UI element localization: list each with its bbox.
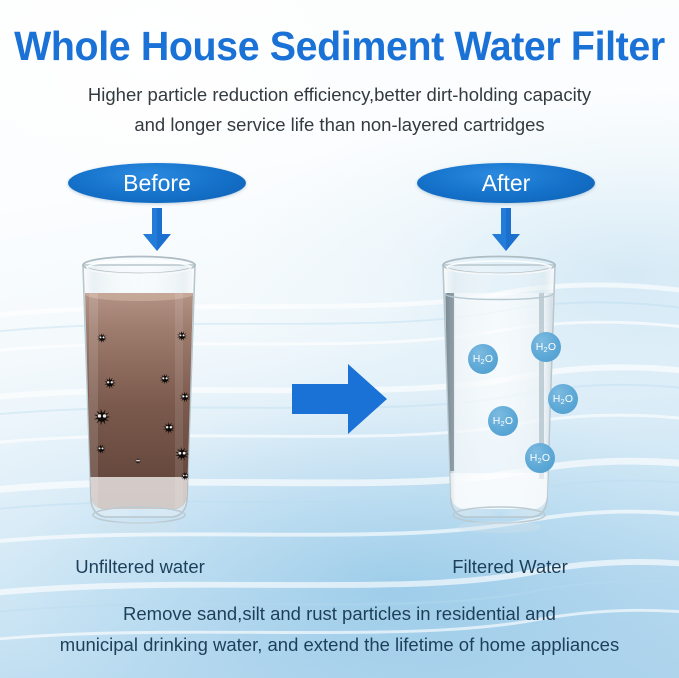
h2o-badge: H2O (548, 384, 578, 414)
infographic-poster: Whole House Sediment Water Filter Higher… (0, 0, 679, 678)
caption-unfiltered: Unfiltered water (10, 556, 270, 578)
subtitle-line-2: and longer service life than non-layered… (0, 110, 679, 140)
h2o-badge: H2O (531, 332, 561, 362)
footer-description: Remove sand,silt and rust particles in r… (0, 598, 679, 660)
subtitle-line-1: Higher particle reduction efficiency,bet… (0, 80, 679, 110)
glass-filtered-water: H2OH2OH2OH2OH2O (435, 251, 563, 533)
page-title: Whole House Sediment Water Filter (14, 22, 666, 70)
page-subtitle: Higher particle reduction efficiency,bet… (0, 80, 679, 140)
glass-unfiltered-water (75, 251, 203, 533)
h2o-badge: H2O (525, 443, 555, 473)
h2o-badge: H2O (488, 406, 518, 436)
arrow-down-icon-left (142, 208, 172, 252)
footer-line-2: municipal drinking water, and extend the… (0, 629, 679, 660)
caption-filtered: Filtered Water (380, 556, 640, 578)
arrow-right-icon (292, 362, 388, 436)
arrow-down-icon-right (491, 208, 521, 252)
footer-line-1: Remove sand,silt and rust particles in r… (0, 598, 679, 629)
h2o-badge: H2O (468, 344, 498, 374)
after-label-pill: After (417, 163, 595, 203)
before-label-pill: Before (68, 163, 246, 203)
